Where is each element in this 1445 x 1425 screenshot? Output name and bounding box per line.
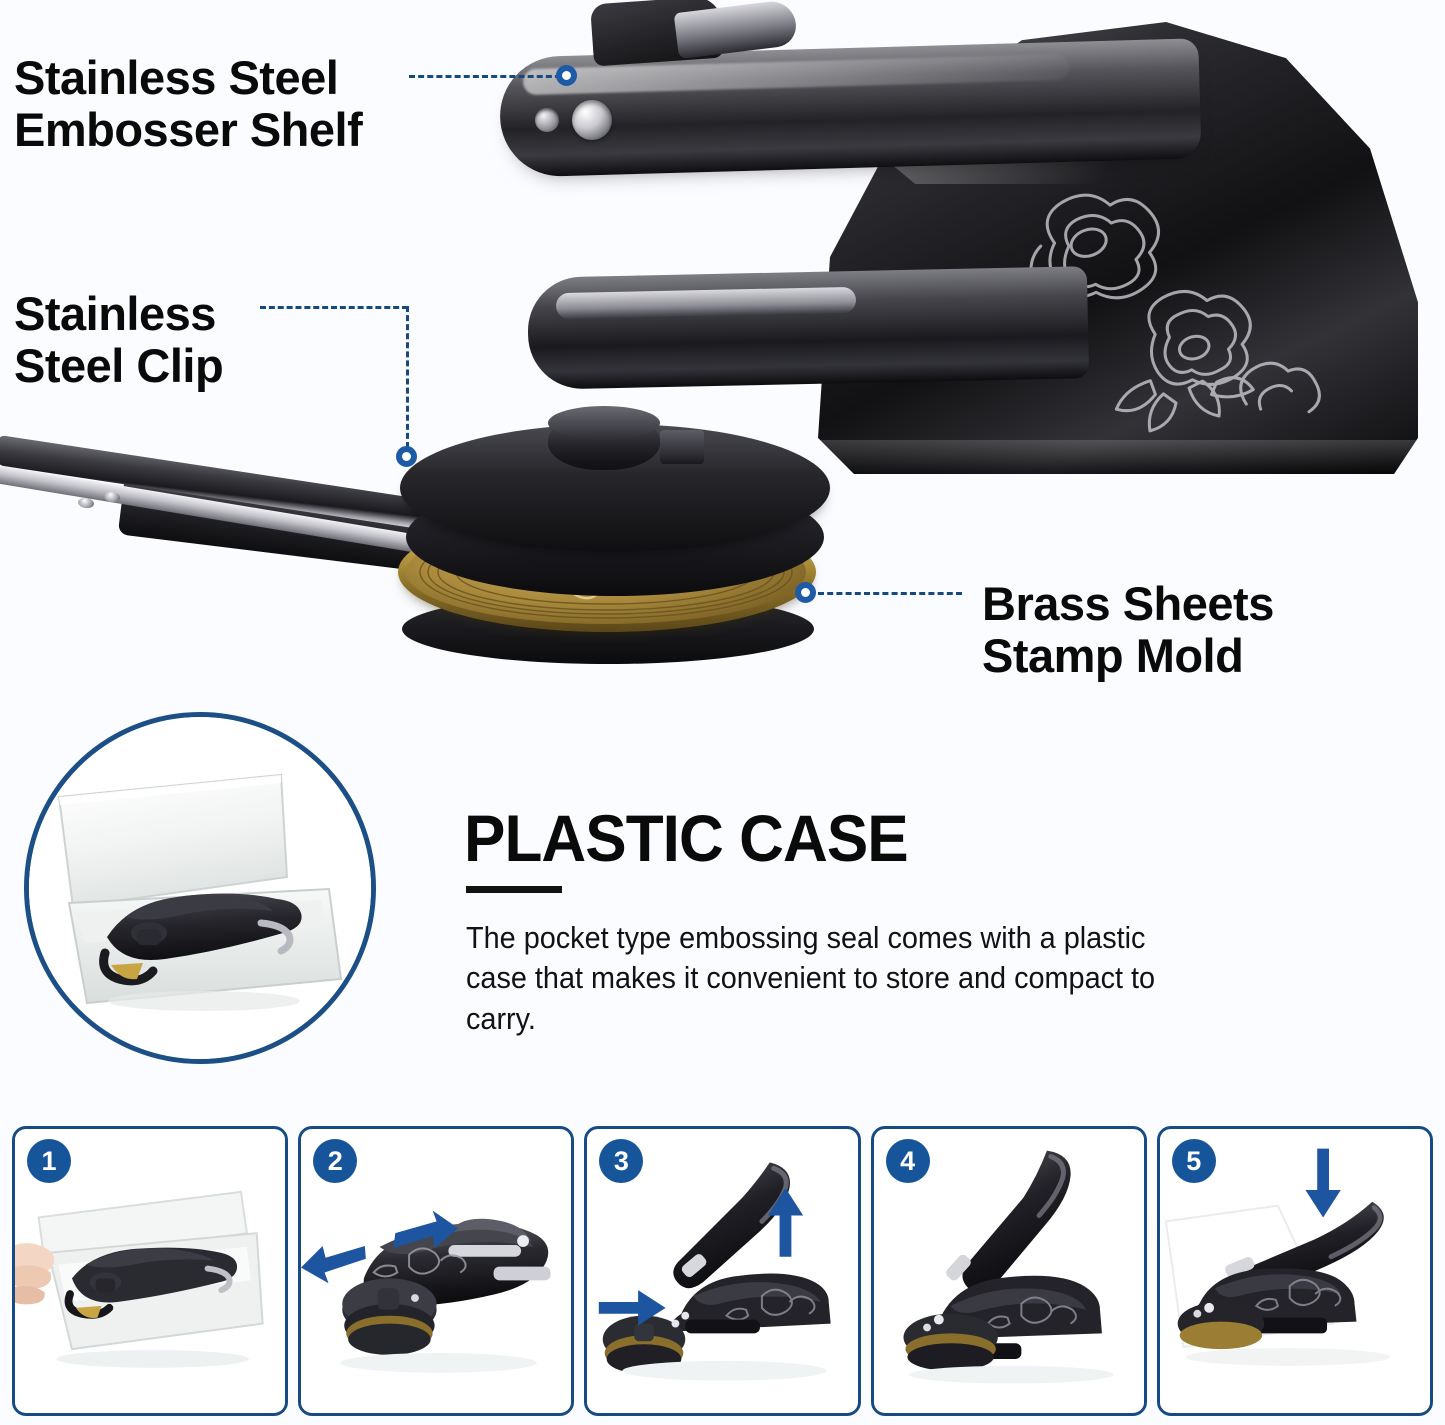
instruction-steps-row: 1: [12, 1126, 1433, 1416]
plastic-case-description: The pocket type embossing seal comes wit…: [466, 918, 1156, 1039]
leader-line-clip-vertical: [406, 306, 409, 448]
disc-knob-top: [548, 406, 660, 440]
plastic-case-photo-frame: [24, 712, 376, 1064]
callout-label-brass: Brass Sheets Stamp Mold: [982, 578, 1274, 681]
plastic-case-photo: [29, 717, 371, 1059]
leader-line-clip-horizontal: [260, 306, 408, 309]
callout-label-shelf: Stainless Steel Embosser Shelf: [14, 52, 362, 155]
step-panel-5[interactable]: 5: [1157, 1126, 1433, 1416]
step-badge-4: 4: [886, 1139, 930, 1183]
step-panel-4[interactable]: 4: [871, 1126, 1147, 1416]
callout-dot-clip: [396, 446, 417, 467]
step-badge-1: 1: [27, 1139, 71, 1183]
leader-line-brass: [818, 592, 962, 595]
leader-line-shelf: [409, 75, 561, 78]
infographic-canvas: LIBRARY OF Stainless Steel Embosser Shel…: [0, 0, 1445, 1425]
callout-dot-shelf: [556, 65, 577, 86]
step-panel-1[interactable]: 1: [12, 1126, 288, 1416]
embosser-lower-jaw: [527, 266, 1089, 390]
step-badge-5: 5: [1172, 1139, 1216, 1183]
heading-underline-rule: [466, 886, 562, 893]
arm-pivot-hole: [535, 108, 559, 132]
plastic-case-heading: PLASTIC CASE: [464, 800, 908, 876]
disc-alignment-tab: [660, 430, 704, 464]
callout-label-clip: Stainless Steel Clip: [14, 288, 223, 391]
arm-screw: [572, 100, 612, 140]
callout-dot-brass: [795, 582, 816, 603]
step-panel-2[interactable]: 2: [298, 1126, 574, 1416]
step-panel-3[interactable]: 3: [584, 1126, 860, 1416]
step-badge-2: 2: [313, 1139, 357, 1183]
